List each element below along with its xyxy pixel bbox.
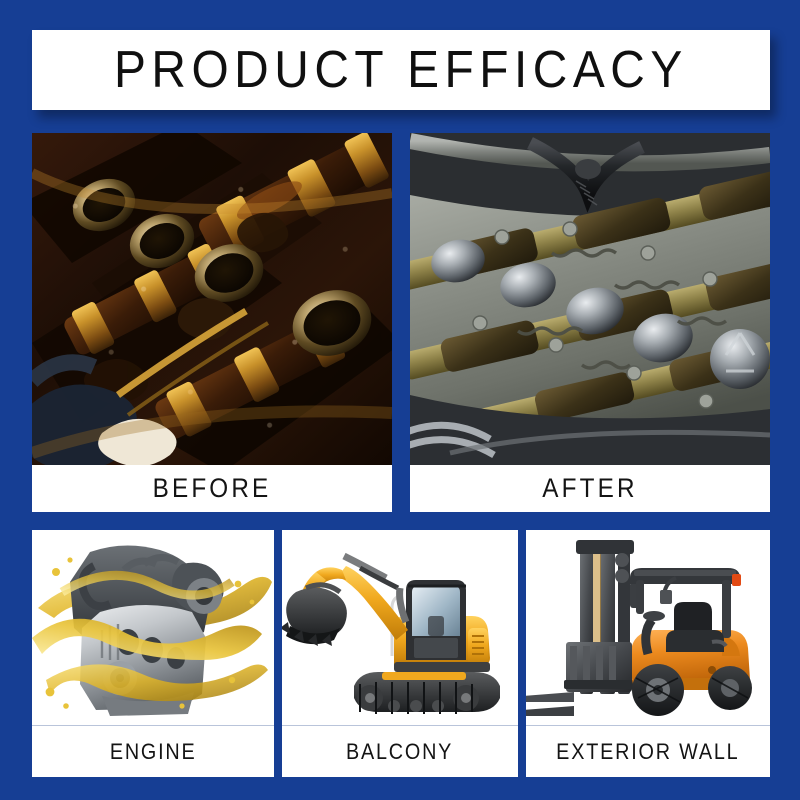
application-card-exterior-wall: EXTERIOR WALL xyxy=(526,530,770,777)
clean-cylinder-head-illustration xyxy=(410,133,770,465)
balcony-caption: BALCONY xyxy=(282,726,518,777)
application-card-balcony: BALCONY xyxy=(282,530,518,777)
comparison-card-after: AFTER xyxy=(410,133,770,512)
exterior-wall-photo xyxy=(526,530,770,726)
poster-root: PRODUCT EFFICACY xyxy=(0,0,800,800)
before-caption-label: BEFORE xyxy=(153,473,272,504)
engine-photo xyxy=(32,530,274,726)
after-caption: AFTER xyxy=(410,465,770,512)
excavator-illustration xyxy=(282,530,518,725)
page-title: PRODUCT EFFICACY xyxy=(114,40,688,100)
after-caption-label: AFTER xyxy=(542,473,637,504)
sludged-engine-illustration xyxy=(32,133,392,465)
balcony-caption-label: BALCONY xyxy=(346,739,453,765)
forklift-illustration xyxy=(526,530,770,725)
engine-oil-splash-illustration xyxy=(32,530,274,725)
before-photo xyxy=(32,133,392,465)
application-card-engine: ENGINE xyxy=(32,530,274,777)
before-caption: BEFORE xyxy=(32,465,392,512)
comparison-card-before: BEFORE xyxy=(32,133,392,512)
exterior-wall-caption-label: EXTERIOR WALL xyxy=(556,739,739,765)
engine-caption: ENGINE xyxy=(32,726,274,777)
balcony-photo xyxy=(282,530,518,726)
title-banner: PRODUCT EFFICACY xyxy=(32,30,770,110)
after-photo xyxy=(410,133,770,465)
engine-caption-label: ENGINE xyxy=(110,739,197,765)
exterior-wall-caption: EXTERIOR WALL xyxy=(526,726,770,777)
